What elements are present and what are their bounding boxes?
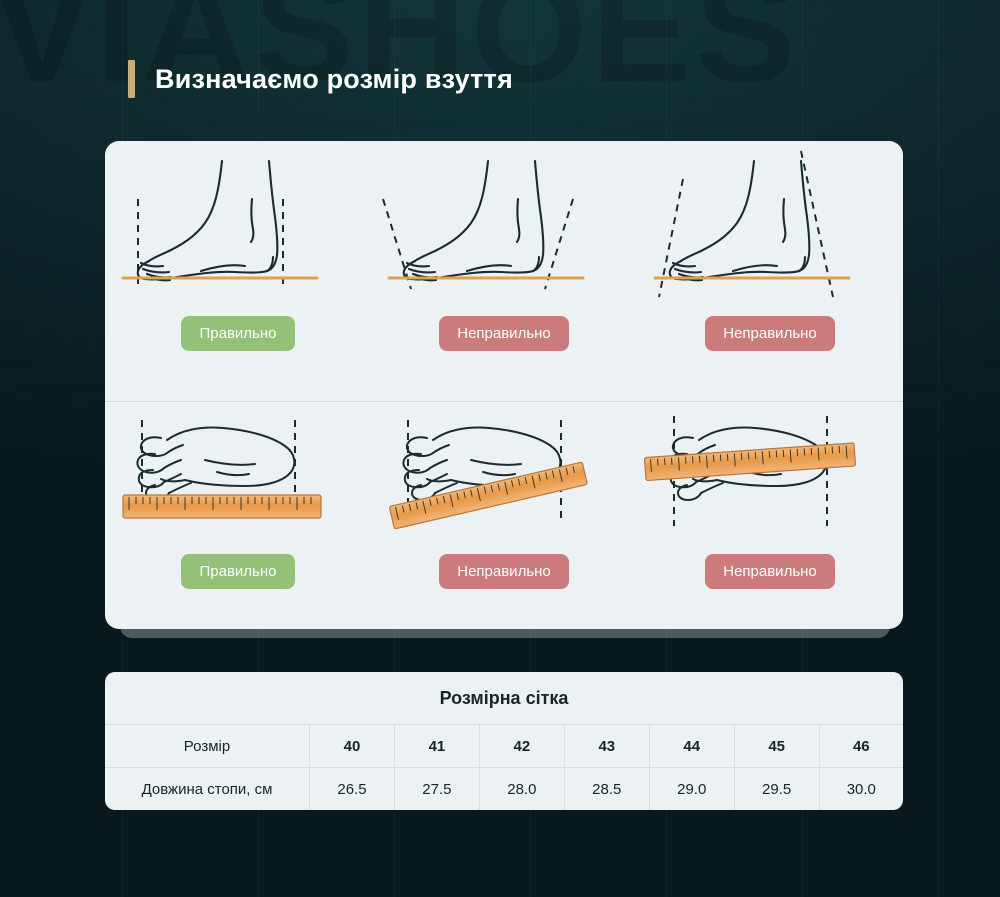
page-title: Визначаємо розмір взуття bbox=[155, 64, 513, 95]
table-cell: 46 bbox=[819, 725, 903, 768]
foot-sole-diagram-ruler-tilted bbox=[371, 402, 637, 554]
verdict-badge: Неправильно bbox=[439, 316, 569, 351]
panel-sole-wrong-tilted-ruler: Неправильно bbox=[371, 402, 637, 629]
ruler bbox=[644, 443, 855, 481]
table-cell: 28.5 bbox=[564, 768, 649, 811]
table-cell: 43 bbox=[564, 725, 649, 768]
foot-sole-diagram-ruler-flat bbox=[105, 402, 371, 554]
table-row-foot-length: Довжина стопи, см 26.5 27.5 28.0 28.5 29… bbox=[105, 768, 903, 811]
foot-sole-diagram-ruler-across bbox=[637, 402, 903, 554]
foot-side-diagram-tilted bbox=[637, 141, 903, 316]
table-cell: 42 bbox=[479, 725, 564, 768]
table-cell: 26.5 bbox=[310, 768, 395, 811]
foot-side-diagram-correct bbox=[105, 141, 371, 316]
table-cell: 30.0 bbox=[819, 768, 903, 811]
table-cell: 29.0 bbox=[649, 768, 734, 811]
ruler bbox=[123, 495, 321, 518]
panel-side-wrong-splayed: Неправильно bbox=[371, 141, 637, 401]
row-label: Розмір bbox=[105, 725, 310, 768]
verdict-badge: Неправильно bbox=[439, 554, 569, 589]
panel-sole-correct: Правильно bbox=[105, 402, 371, 629]
verdict-badge: Правильно bbox=[181, 316, 294, 351]
measurement-method-card: Правильно bbox=[105, 141, 903, 629]
table-cell: 27.5 bbox=[394, 768, 479, 811]
panel-side-wrong-tilted: Неправильно bbox=[637, 141, 903, 401]
guide-line-left bbox=[383, 199, 411, 289]
size-chart-table: Розмір 40 41 42 43 44 45 46 Довжина стоп… bbox=[105, 725, 903, 810]
table-row-sizes: Розмір 40 41 42 43 44 45 46 bbox=[105, 725, 903, 768]
verdict-badge: Неправильно bbox=[705, 316, 835, 351]
size-chart-card: Розмірна сітка Розмір 40 41 42 43 44 45 … bbox=[105, 672, 903, 810]
sole-view-panel-row: Правильно bbox=[105, 402, 903, 629]
table-cell: 45 bbox=[734, 725, 819, 768]
size-chart-title: Розмірна сітка bbox=[105, 672, 903, 725]
table-cell: 41 bbox=[394, 725, 479, 768]
page-header: Визначаємо розмір взуття bbox=[128, 60, 513, 98]
table-cell: 40 bbox=[310, 725, 395, 768]
side-view-panel-row: Правильно bbox=[105, 141, 903, 401]
title-accent-bar bbox=[128, 60, 135, 98]
row-label: Довжина стопи, см bbox=[105, 768, 310, 811]
verdict-badge: Правильно bbox=[181, 554, 294, 589]
panel-side-correct: Правильно bbox=[105, 141, 371, 401]
table-cell: 28.0 bbox=[479, 768, 564, 811]
foot-side-diagram-splayed bbox=[371, 141, 637, 316]
table-cell: 44 bbox=[649, 725, 734, 768]
verdict-badge: Неправильно bbox=[705, 554, 835, 589]
guide-line-right bbox=[801, 151, 833, 297]
panel-sole-wrong-ruler-across: Неправильно bbox=[637, 402, 903, 629]
table-cell: 29.5 bbox=[734, 768, 819, 811]
guide-line-right bbox=[545, 199, 573, 289]
